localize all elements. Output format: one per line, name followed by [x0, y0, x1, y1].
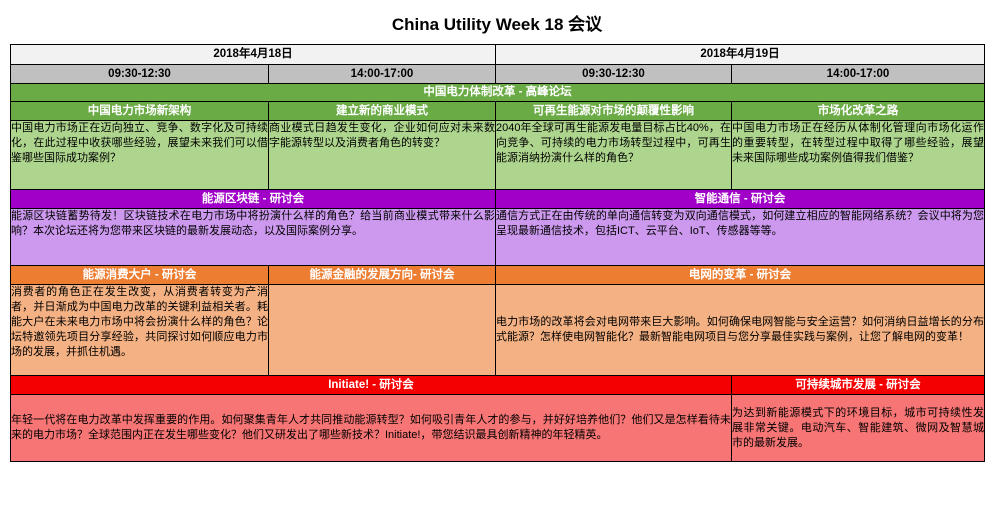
session-title-large-energy-consumers[interactable]: 能源消费大户 - 研讨会 [11, 266, 269, 285]
session-title-energy-blockchain[interactable]: 能源区块链 - 研讨会 [11, 190, 496, 209]
time-slot-day2-morning: 09:30-12:30 [496, 65, 732, 84]
session-body-energy-blockchain: 能源区块链蓄势待发！区块链技术在电力市场中将扮演什么样的角色？给当前商业模式带来… [11, 209, 496, 266]
summit-session-title-row: 中国电力市场新架构 建立新的商业模式 可再生能源对市场的颠覆性影响 市场化改革之… [11, 102, 985, 121]
session-title-renewables-disruption[interactable]: 可再生能源对市场的颠覆性影响 [496, 102, 732, 121]
red-body-row: 年轻一代将在电力改革中发挥重要的作用。如何聚集青年人才共同推动能源转型？如何吸引… [11, 395, 985, 462]
summit-band-row: 中国电力体制改革 - 高峰论坛 [11, 84, 985, 102]
time-slot-day1-morning: 09:30-12:30 [11, 65, 269, 84]
session-body-market-reform-path: 中国电力市场正在经历从体制化管理向市场化运作的重要转型，在转型过程中取得了哪些经… [732, 121, 985, 190]
time-header-row: 09:30-12:30 14:00-17:00 09:30-12:30 14:0… [11, 65, 985, 84]
purple-title-row: 能源区块链 - 研讨会 智能通信 - 研讨会 [11, 190, 985, 209]
session-title-energy-finance[interactable]: 能源金融的发展方向- 研讨会 [269, 266, 496, 285]
time-slot-day2-afternoon: 14:00-17:00 [732, 65, 985, 84]
summit-session-body-row: 中国电力市场正在迈向独立、竞争、数字化及可持续化，在此过程中收获哪些经验，展望未… [11, 121, 985, 190]
session-body-grid-transformation: 电力市场的改革将会对电网带来巨大影响。如何确保电网智能与安全运营？如何消纳日益增… [496, 285, 985, 376]
session-title-initiate[interactable]: Initiate! - 研讨会 [11, 376, 732, 395]
session-body-initiate: 年轻一代将在电力改革中发挥重要的作用。如何聚集青年人才共同推动能源转型？如何吸引… [11, 395, 732, 462]
time-slot-day1-afternoon: 14:00-17:00 [269, 65, 496, 84]
session-body-renewables-disruption: 2040年全球可再生能源发电量目标占比40%，在向竞争、可持续的电力市场转型过程… [496, 121, 732, 190]
session-body-new-market-architecture: 中国电力市场正在迈向独立、竞争、数字化及可持续化，在此过程中收获哪些经验，展望未… [11, 121, 269, 190]
session-body-smart-communication: 通信方式正在由传统的单向通信转变为双向通信模式，如何建立相应的智能网络系统？会议… [496, 209, 985, 266]
orange-body-row: 消费者的角色正在发生改变，从消费者转变为产消者，并日渐成为中国电力改革的关键利益… [11, 285, 985, 376]
session-title-new-business-models[interactable]: 建立新的商业模式 [269, 102, 496, 121]
session-title-smart-communication[interactable]: 智能通信 - 研讨会 [496, 190, 985, 209]
conference-schedule-table: 2018年4月18日 2018年4月19日 09:30-12:30 14:00-… [10, 44, 985, 462]
session-title-market-reform-path[interactable]: 市场化改革之路 [732, 102, 985, 121]
date-header-row: 2018年4月18日 2018年4月19日 [11, 45, 985, 65]
session-body-new-business-models: 商业模式日趋发生变化，企业如何应对未来数字能源转型以及消费者角色的转变？ [269, 121, 496, 190]
red-title-row: Initiate! - 研讨会 可持续城市发展 - 研讨会 [11, 376, 985, 395]
orange-title-row: 能源消费大户 - 研讨会 能源金融的发展方向- 研讨会 电网的变革 - 研讨会 [11, 266, 985, 285]
date-header-day2: 2018年4月19日 [496, 45, 985, 65]
session-body-sustainable-city: 为达到新能源模式下的环境目标，城市可持续性发展非常关键。电动汽车、智能建筑、微网… [732, 395, 985, 462]
date-header-day1: 2018年4月18日 [11, 45, 496, 65]
page-title: China Utility Week 18 会议 [0, 0, 994, 44]
session-title-sustainable-city[interactable]: 可持续城市发展 - 研讨会 [732, 376, 985, 395]
summit-band-title: 中国电力体制改革 - 高峰论坛 [11, 84, 985, 102]
schedule-page: China Utility Week 18 会议 2018年4月18日 2018… [0, 0, 994, 515]
purple-body-row: 能源区块链蓄势待发！区块链技术在电力市场中将扮演什么样的角色？给当前商业模式带来… [11, 209, 985, 266]
session-title-new-market-architecture[interactable]: 中国电力市场新架构 [11, 102, 269, 121]
session-title-grid-transformation[interactable]: 电网的变革 - 研讨会 [496, 266, 985, 285]
session-body-energy-finance [269, 285, 496, 376]
session-body-large-energy-consumers: 消费者的角色正在发生改变，从消费者转变为产消者，并日渐成为中国电力改革的关键利益… [11, 285, 269, 376]
